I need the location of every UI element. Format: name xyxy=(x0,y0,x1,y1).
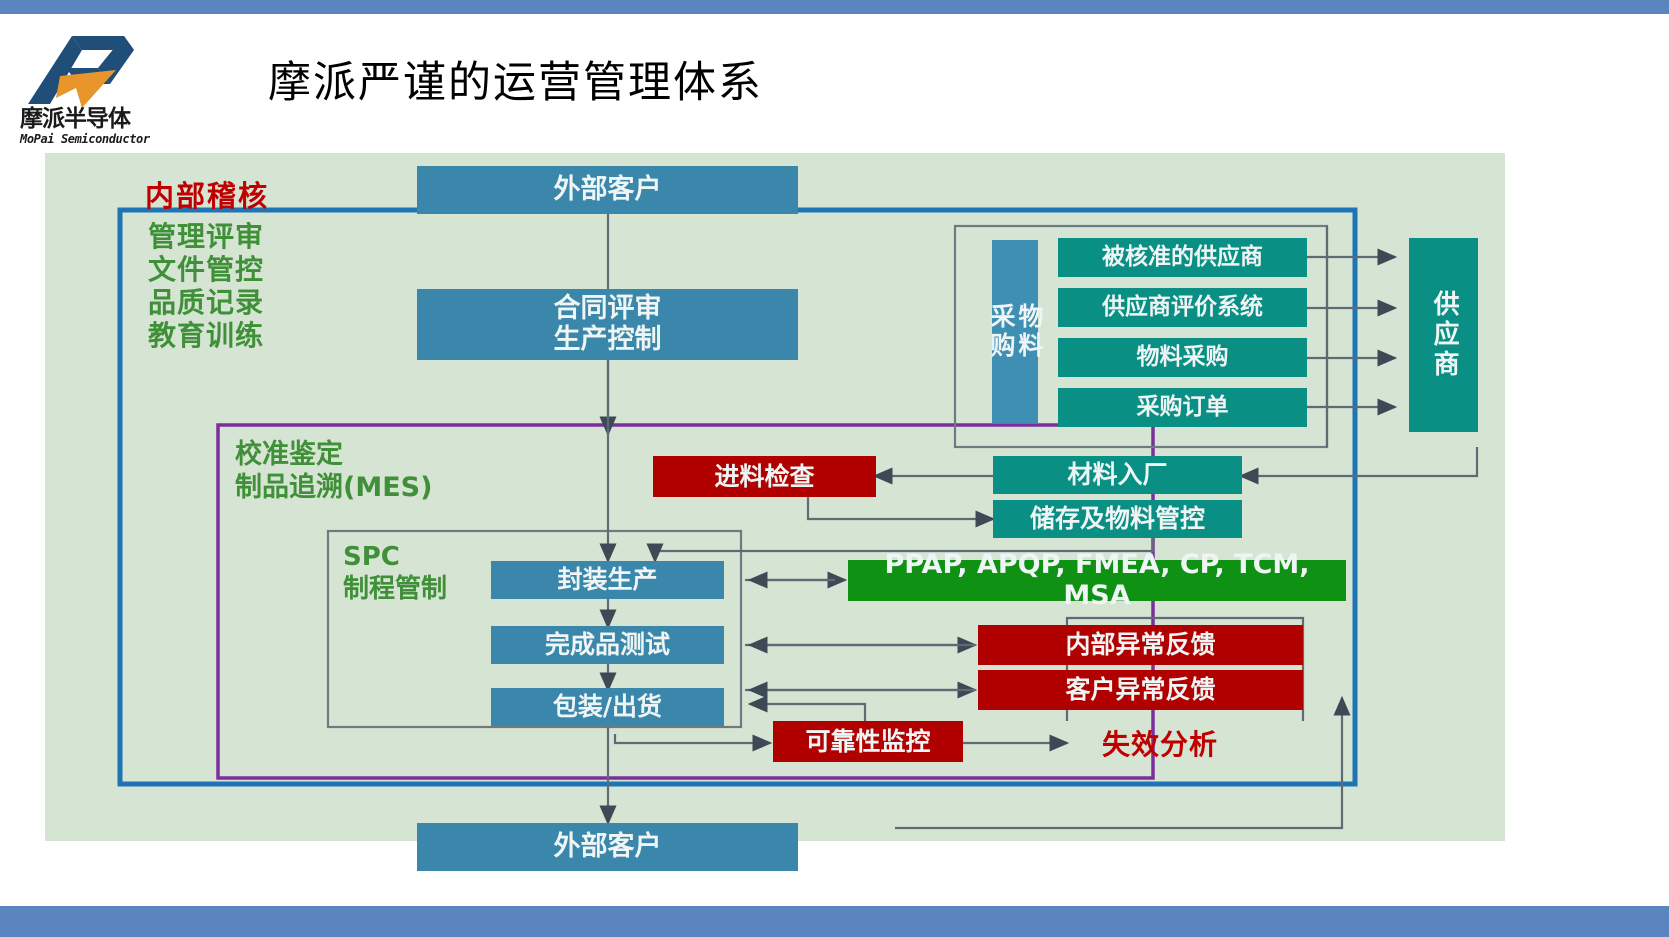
label-spc-block: SPC 制程管制 xyxy=(343,541,447,605)
logo-english-name: MoPai Semiconductor xyxy=(20,132,150,146)
mopai-logo-icon xyxy=(20,24,136,108)
slide: 摩派半导体 MoPai Semiconductor 摩派严谨的运营管理体系 xyxy=(0,0,1669,937)
node-contract-review[interactable]: 合同评审 生产控制 xyxy=(417,289,798,360)
process-diagram: 内部稽核 管理评审 文件管控 品质记录 教育训练 校准鉴定 制品追溯(MES) … xyxy=(45,153,1505,841)
node-incoming-inspection[interactable]: 进料检查 xyxy=(653,456,876,497)
node-reliability-monitor[interactable]: 可靠性监控 xyxy=(773,721,963,762)
node-supplier[interactable]: 供应商 xyxy=(1409,238,1478,432)
node-material-purchase[interactable]: 物料 采购 xyxy=(992,240,1038,423)
node-customer-abnormal-feedback[interactable]: 客户异常反馈 xyxy=(978,670,1303,710)
node-external-customer-top[interactable]: 外部客户 xyxy=(417,166,798,214)
node-supplier-evaluation[interactable]: 供应商评价系统 xyxy=(1058,288,1307,327)
label-internal-audit: 内部稽核 xyxy=(145,173,269,215)
node-external-customer-bottom[interactable]: 外部客户 xyxy=(417,823,798,871)
node-storage-material-control[interactable]: 储存及物料管控 xyxy=(993,500,1242,538)
bottom-band xyxy=(0,906,1669,937)
label-failure-analysis-text: 失效分析 xyxy=(1102,723,1218,763)
node-package-production[interactable]: 封装生产 xyxy=(491,561,724,599)
node-purchase-order[interactable]: 采购订单 xyxy=(1058,388,1307,427)
label-management-block: 管理评审 文件管控 品质记录 教育训练 xyxy=(148,220,264,352)
top-band xyxy=(0,0,1669,14)
node-finished-goods-test[interactable]: 完成品测试 xyxy=(491,626,724,664)
node-internal-abnormal-feedback[interactable]: 内部异常反馈 xyxy=(978,625,1303,665)
logo: 摩派半导体 MoPai Semiconductor xyxy=(12,24,142,142)
node-material-procurement[interactable]: 物料采购 xyxy=(1058,338,1307,377)
page-title: 摩派严谨的运营管理体系 xyxy=(268,48,763,110)
node-approved-supplier[interactable]: 被核准的供应商 xyxy=(1058,238,1307,277)
label-mes-block: 校准鉴定 制品追溯(MES) xyxy=(235,438,432,504)
node-material-inbound[interactable]: 材料入厂 xyxy=(993,456,1242,494)
node-packing-shipping[interactable]: 包装/出货 xyxy=(491,688,724,726)
top-band-gap xyxy=(0,14,1669,18)
logo-chinese-name: 摩派半导体 xyxy=(20,106,140,132)
node-quality-tools[interactable]: PPAP, APQP, FMEA, CP, TCM, MSA xyxy=(848,560,1346,601)
